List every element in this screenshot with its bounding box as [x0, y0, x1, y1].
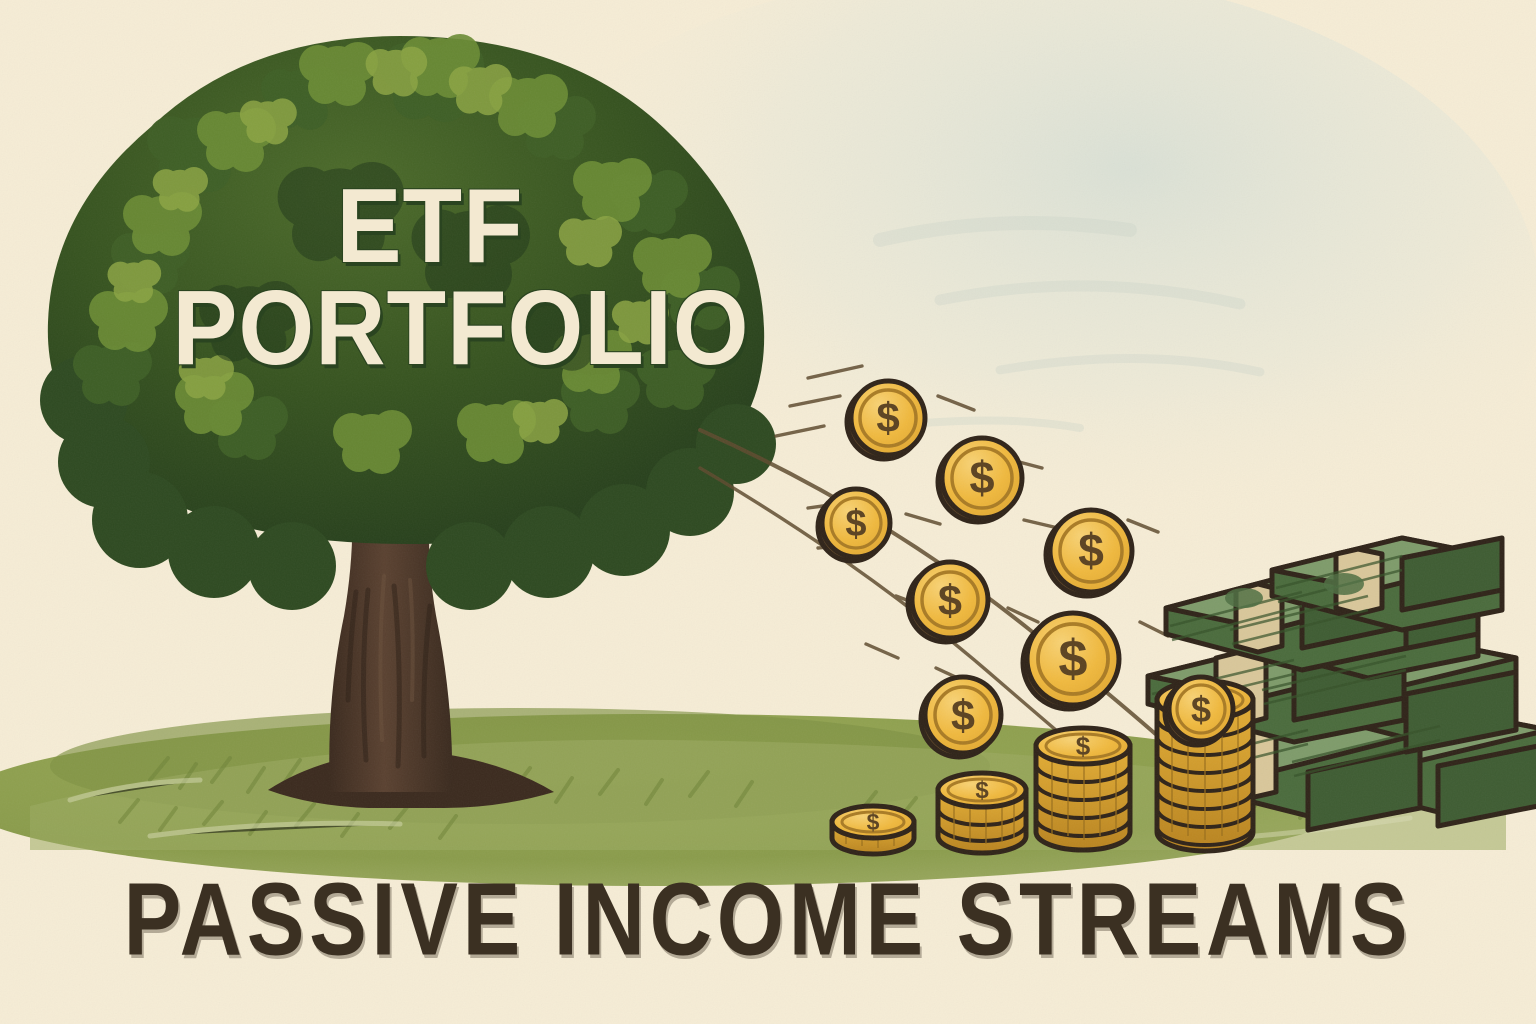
- illustration-canvas: $ $: [0, 0, 1536, 1024]
- poster-illustration: $ $: [0, 0, 1536, 1024]
- paper-grain: [0, 0, 1536, 1024]
